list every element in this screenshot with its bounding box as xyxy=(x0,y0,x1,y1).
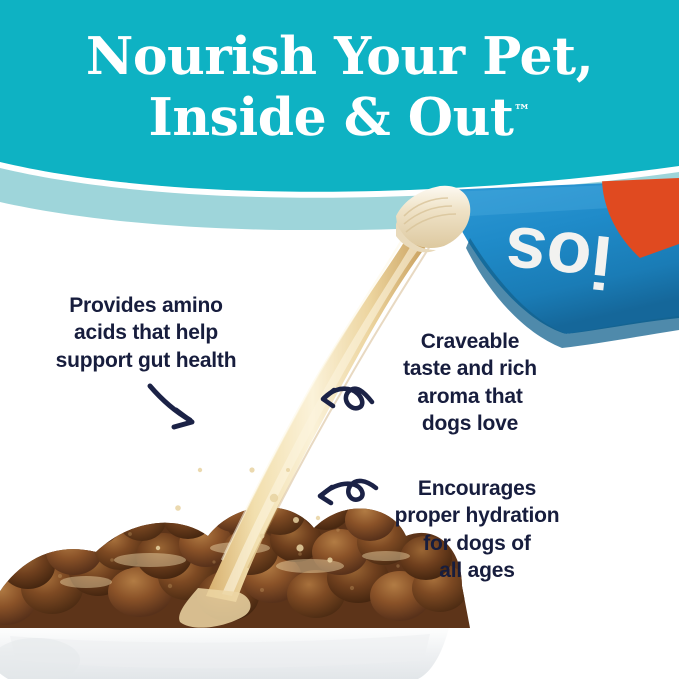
headline-line-2-wrapper: Inside & Out™ xyxy=(0,87,679,148)
callout-hydrate-line-2: proper hydration xyxy=(368,502,586,529)
pouch-body xyxy=(444,180,679,348)
pouch-brand-text: ios xyxy=(501,211,616,305)
looped-arrow-left-craveable-icon xyxy=(323,389,372,409)
callout-crave-line-4: dogs love xyxy=(372,410,568,437)
teal-band xyxy=(0,0,679,192)
headline-line-2: Inside & Out xyxy=(149,87,514,148)
svg-text:ios: ios xyxy=(501,211,616,305)
page-headline: Nourish Your Pet, Inside & Out™ xyxy=(0,26,679,149)
callout-crave-line-3: aroma that xyxy=(372,383,568,410)
callout-craveable-taste: Craveable taste and rich aroma that dogs… xyxy=(372,328,568,437)
callout-hydrate-line-3: for dogs of xyxy=(368,530,586,557)
trademark-symbol: ™ xyxy=(513,102,530,122)
callout-crave-line-2: taste and rich xyxy=(372,355,568,382)
liquid-droplets xyxy=(156,467,333,562)
pouch-spout xyxy=(396,186,470,253)
curved-arrow-down-right-icon xyxy=(150,386,192,427)
callout-crave-line-1: Craveable xyxy=(372,328,568,355)
callout-amino-line-3: support gut health xyxy=(22,347,270,374)
callout-amino-line-2: acids that help xyxy=(22,319,270,346)
product-marketing-image: Nourish Your Pet, Inside & Out™ xyxy=(0,0,679,679)
wave-stripe xyxy=(0,168,679,230)
callout-amino-line-1: Provides amino xyxy=(22,292,270,319)
dog-food-bowl xyxy=(0,602,452,679)
header-banner: Nourish Your Pet, Inside & Out™ xyxy=(0,0,679,230)
headline-line-1: Nourish Your Pet, xyxy=(86,26,593,87)
pouch-accent-shape xyxy=(602,176,679,258)
callout-hydrate-line-1: Encourages xyxy=(368,475,586,502)
callout-hydration: Encourages proper hydration for dogs of … xyxy=(368,475,586,584)
callout-amino-acids: Provides amino acids that help support g… xyxy=(22,292,270,374)
callout-hydrate-line-4: all ages xyxy=(368,557,586,584)
